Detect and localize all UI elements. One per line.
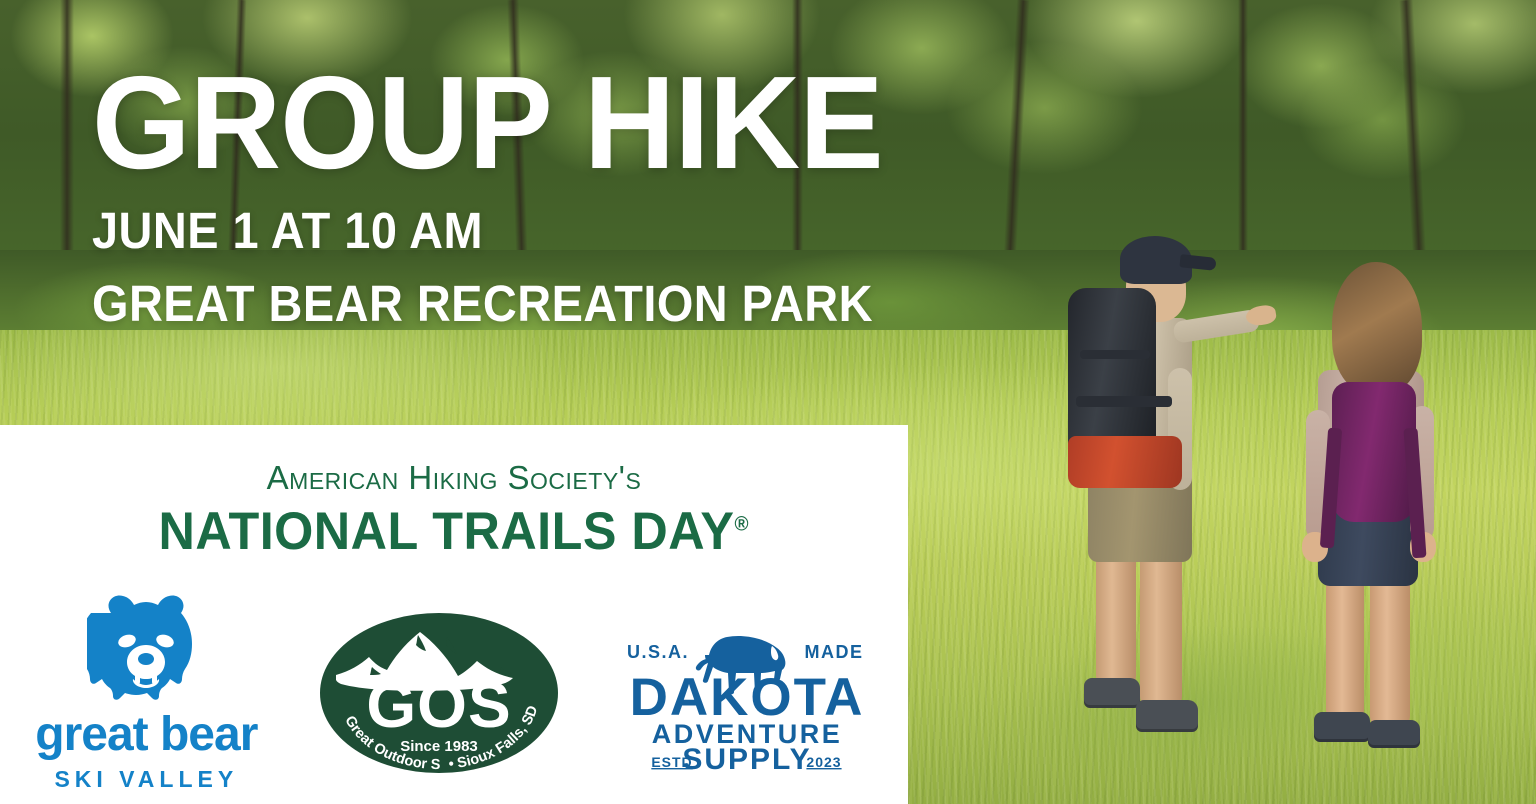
dakota-line3: SUPPLY [682, 743, 811, 773]
event-poster: GROUP HIKE JUNE 1 AT 10 AM GREAT BEAR RE… [0, 0, 1536, 804]
backpack-strap [1076, 396, 1172, 407]
registered-trademark-icon: ® [735, 513, 749, 535]
backpack [1332, 382, 1416, 522]
ntd-top-line: American Hiking Society's [0, 459, 908, 497]
dakota-made-label: MADE [804, 642, 863, 662]
hiking-boot [1136, 700, 1198, 732]
backpack-strap [1080, 350, 1150, 359]
hiking-boot [1084, 678, 1140, 708]
event-datetime: JUNE 1 AT 10 AM [92, 205, 883, 256]
gos-oval-logo: GOS Since 1983 Great Outdoor Store • Sio… [318, 609, 560, 777]
dakota-usa-label: U.S.A. [627, 642, 689, 662]
dakota-logo: U.S.A. MADE DAKOTA ADVENTURE ESTD SUPPLY… [614, 613, 880, 773]
hiker-leg [1140, 540, 1182, 710]
logo-gos[interactable]: GOS Since 1983 Great Outdoor Store • Sio… [314, 609, 564, 777]
gos-since-text: Since 1983 [400, 738, 478, 755]
hiking-boot [1368, 720, 1420, 748]
great-bear-tagline: SKI VALLEY [54, 766, 238, 793]
sponsor-panel: American Hiking Society's NATIONAL TRAIL… [0, 425, 908, 804]
hiker-hair [1332, 262, 1422, 394]
page-title: GROUP HIKE [92, 62, 918, 183]
sponsor-logo-row: great bear SKI VALLEY GOS S [0, 593, 908, 793]
national-trails-day-lockup: American Hiking Society's NATIONAL TRAIL… [0, 459, 908, 562]
logo-great-bear[interactable]: great bear SKI VALLEY [21, 593, 271, 793]
logo-dakota-adventure-supply[interactable]: U.S.A. MADE DAKOTA ADVENTURE ESTD SUPPLY… [607, 613, 887, 773]
ntd-main-text: NATIONAL TRAILS DAY [159, 502, 735, 561]
great-bear-wordmark: great bear [35, 711, 257, 759]
hiking-boot [1314, 712, 1370, 742]
ntd-main-line: NATIONAL TRAILS DAY® [159, 501, 749, 562]
male-hiker [1040, 200, 1260, 760]
dakota-estd-year: 2023 [806, 754, 841, 770]
hiker-leg [1370, 562, 1410, 730]
event-location: GREAT BEAR RECREATION PARK [92, 278, 883, 329]
female-hiker [1270, 250, 1480, 770]
hiker-leg [1326, 568, 1364, 724]
backpack-hipbelt [1068, 436, 1182, 488]
svg-text:GOS: GOS [366, 669, 511, 741]
headline-block: GROUP HIKE JUNE 1 AT 10 AM GREAT BEAR RE… [92, 62, 952, 329]
bear-head-icon [87, 593, 205, 705]
